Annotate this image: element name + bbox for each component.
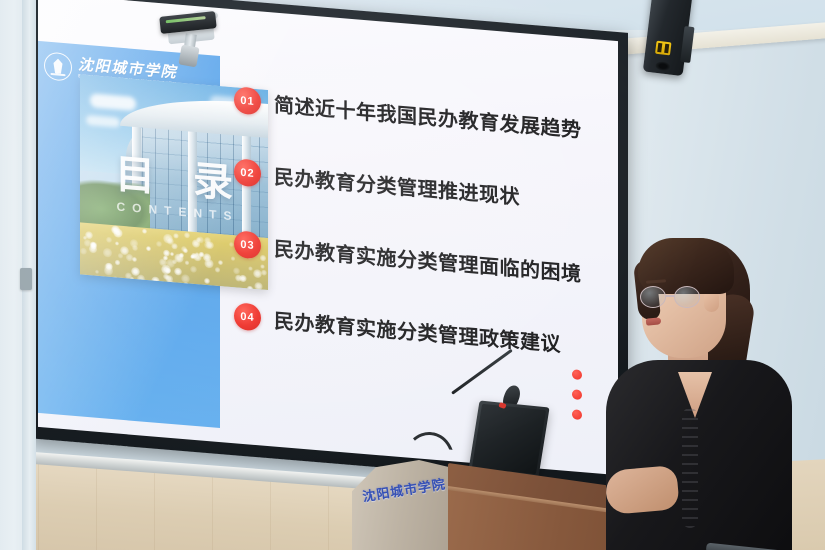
agenda-item: 01简述近十年我国民办教育发展趋势 [234, 85, 594, 144]
agenda-item-label: 民办教育分类管理推进现状 [274, 161, 520, 210]
photo-flower [146, 246, 150, 251]
photo-flower [199, 252, 205, 258]
photo-flower [84, 239, 92, 247]
photo-flower [229, 242, 234, 247]
photo-flower [103, 247, 113, 258]
photo-flower [80, 248, 87, 255]
agenda-list: 01简述近十年我国民办教育发展趋势02民办教育分类管理推进现状03民办教育实施分… [234, 85, 594, 403]
photo-flower [218, 259, 223, 265]
agenda-item-number: 01 [234, 86, 261, 115]
camera-indicator-strip [166, 16, 206, 23]
presenter-top-ruching [682, 408, 698, 528]
lens-right [674, 286, 700, 308]
photo-flower [215, 267, 221, 273]
photo-flower [204, 278, 209, 284]
photo-flower [115, 259, 120, 265]
photo-flower [95, 269, 99, 274]
photo-flower [163, 249, 170, 257]
photo-flower [181, 245, 187, 252]
photo-flower [204, 241, 212, 250]
decoration-dot [572, 409, 582, 420]
agenda-item: 03民办教育实施分类管理面临的困境 [234, 229, 594, 288]
photo-flower [161, 264, 171, 275]
agenda-item-label: 民办教育实施分类管理面临的困境 [274, 233, 582, 288]
photo-flower [184, 232, 190, 238]
laptop-screen [472, 404, 546, 474]
agenda-item-label: 民办教育实施分类管理政策建议 [274, 305, 561, 358]
laptop-icon[interactable] [468, 401, 549, 478]
lecture-hall-scene: 沈阳城市学院 SHENYANG CITY UNIVERSITY [0, 0, 825, 550]
photo-flower [165, 274, 172, 281]
agenda-item-number: 04 [234, 302, 261, 331]
agenda-item-number: 02 [234, 158, 261, 187]
photo-flower [190, 254, 195, 259]
photo-flower [173, 233, 179, 239]
photo-flower [156, 240, 162, 247]
university-seal-icon [44, 51, 72, 81]
photo-flower [115, 241, 119, 246]
photo-flower [132, 245, 138, 251]
slide-surface: 沈阳城市学院 SHENYANG CITY UNIVERSITY [38, 0, 618, 475]
camera-lens [178, 45, 199, 68]
presenter-arm-left [604, 465, 680, 515]
eyeglasses-icon [640, 286, 710, 308]
agenda-item-number: 03 [234, 230, 261, 259]
glasses-bridge [666, 295, 674, 297]
photo-flower [174, 253, 183, 263]
decoration-dot [572, 389, 582, 400]
photo-flower [190, 266, 197, 274]
photo-flower [185, 261, 190, 266]
photo-flower [105, 262, 113, 270]
decoration-dot [572, 369, 582, 380]
speaker-warning-label [655, 41, 671, 56]
photo-flower [142, 229, 146, 234]
photo-flower [167, 238, 174, 245]
photo-flower [118, 253, 124, 259]
photo-flower [192, 239, 200, 248]
photo-flower [126, 253, 133, 261]
agenda-item: 02民办教育分类管理推进现状 [234, 157, 594, 216]
decoration-dots [572, 369, 582, 420]
wall-fixture [20, 268, 32, 290]
agenda-item: 04民办教育实施分类管理政策建议 [234, 301, 594, 360]
photo-flower [106, 236, 113, 243]
photo-flower [170, 251, 174, 255]
lens-left [640, 286, 666, 308]
agenda-item-label: 简述近十年我国民办教育发展趋势 [274, 89, 582, 144]
